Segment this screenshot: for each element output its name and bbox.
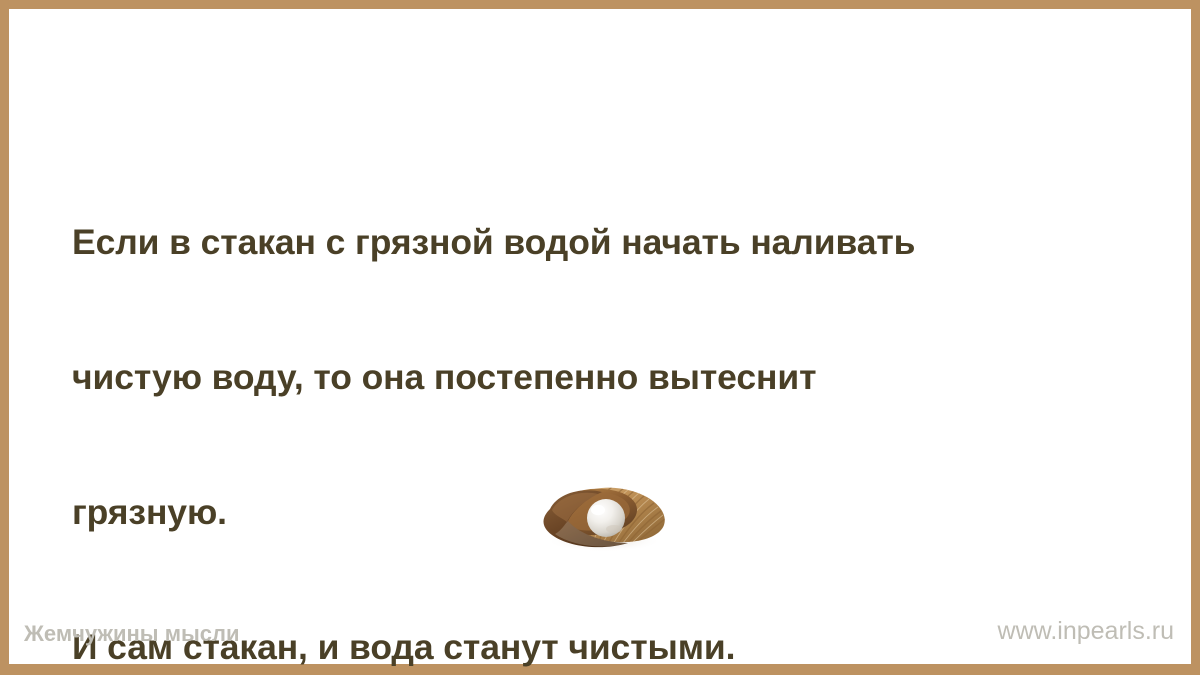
frame-border-top [0, 0, 1200, 9]
quote-line: чистую воду, то она постепенно вытеснит [72, 355, 1147, 400]
site-url[interactable]: www.inpearls.ru [998, 616, 1174, 646]
frame-border-left [0, 0, 9, 675]
quote-text: Если в стакан с грязной водой начать нал… [72, 130, 1147, 675]
frame-border-right [1191, 0, 1200, 675]
quote-line: Если в стакан с грязной водой начать нал… [72, 220, 1147, 265]
brand-label: Жемчужины мысли [24, 620, 240, 648]
quote-card: Если в стакан с грязной водой начать нал… [0, 0, 1200, 675]
oyster-shell-with-pearl-icon [528, 473, 674, 553]
